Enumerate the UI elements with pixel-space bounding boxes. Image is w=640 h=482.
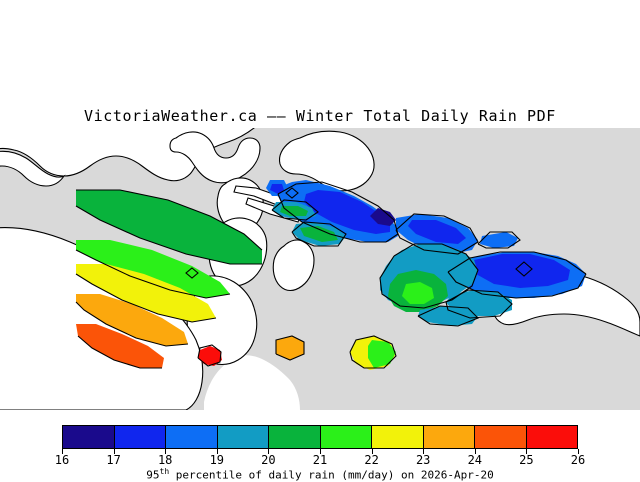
colorbar-label-25: 25 <box>519 453 533 467</box>
colorbar-cell-5[interactable] <box>321 426 373 448</box>
colorbar-cell-9[interactable] <box>527 426 578 448</box>
colorbar-cell-0[interactable] <box>63 426 115 448</box>
colorbar-label-20: 20 <box>261 453 275 467</box>
page-title: VictoriaWeather.ca —— Winter Total Daily… <box>0 107 640 125</box>
colorbar-label-16: 16 <box>55 453 69 467</box>
colorbar-label-21: 21 <box>313 453 327 467</box>
colorbar-cell-2[interactable] <box>166 426 218 448</box>
colorbar-cell-1[interactable] <box>115 426 167 448</box>
colorbar-label-23: 23 <box>416 453 430 467</box>
colorbar-cell-3[interactable] <box>218 426 270 448</box>
colorbar-label-22: 22 <box>364 453 378 467</box>
colorbar-cell-8[interactable] <box>475 426 527 448</box>
colorbar-label-18: 18 <box>158 453 172 467</box>
colorbar-cell-6[interactable] <box>372 426 424 448</box>
colorbar-caption: 95th percentile of daily rain (mm/day) o… <box>0 467 640 482</box>
caption-superscript: th <box>160 467 170 476</box>
colorbar-label-19: 19 <box>210 453 224 467</box>
colorbar-cell-4[interactable] <box>269 426 321 448</box>
colorbar-label-26: 26 <box>571 453 585 467</box>
colorbar-cell-7[interactable] <box>424 426 476 448</box>
colorbar: 1617181920212223242526 95th percentile o… <box>0 420 640 480</box>
map-plot-area[interactable] <box>0 128 640 410</box>
colorbar-label-17: 17 <box>106 453 120 467</box>
colorbar-label-24: 24 <box>468 453 482 467</box>
weather-map-page: VictoriaWeather.ca —— Winter Total Daily… <box>0 0 640 480</box>
map-canvas[interactable] <box>0 128 640 410</box>
colorbar-strip[interactable] <box>62 425 578 449</box>
